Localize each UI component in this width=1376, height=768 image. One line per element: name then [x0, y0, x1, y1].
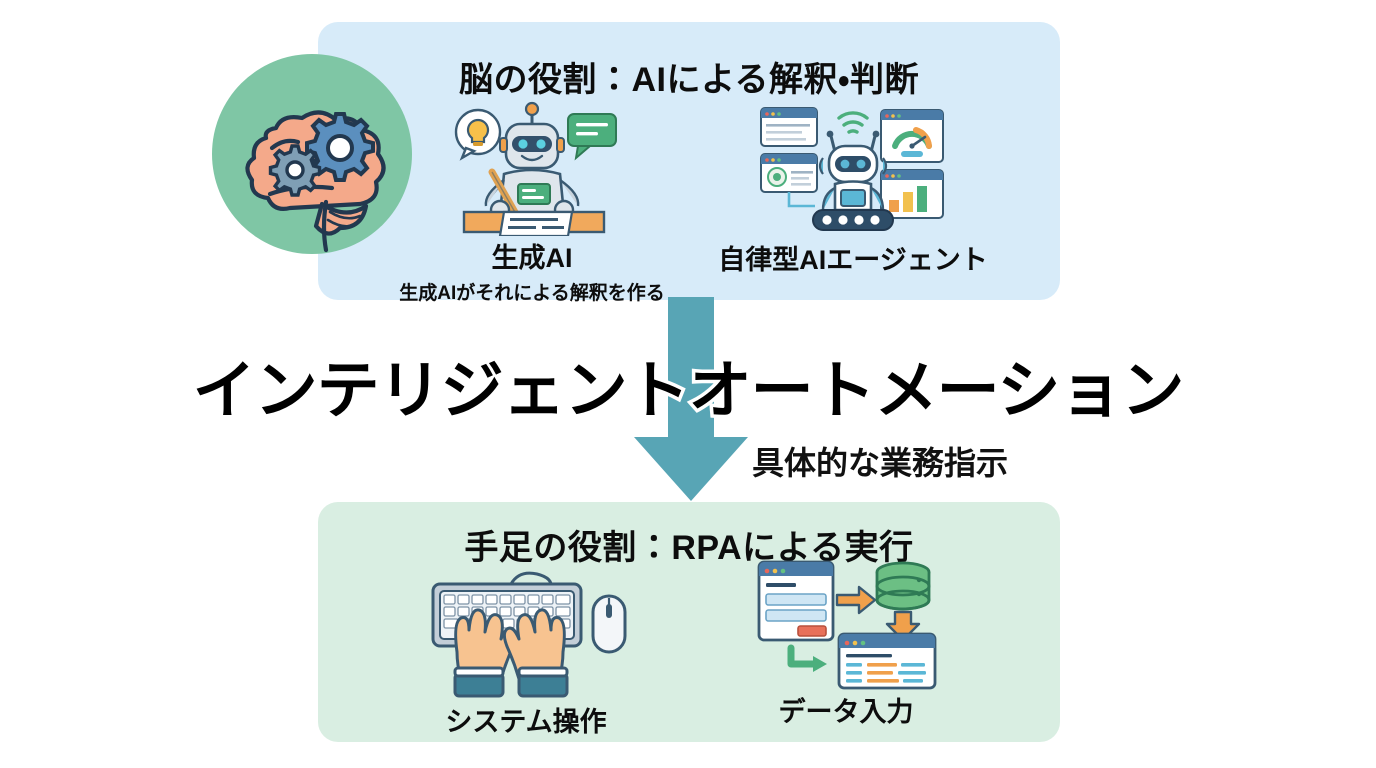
item-generative-ai-label: 生成AI [382, 236, 682, 275]
page-title: インテリジェントオートメーション [0, 340, 1376, 431]
item-system-operation: システム操作 [376, 560, 676, 739]
diagram-canvas: 脳の役割：AIによる解釈・判断 [0, 0, 1376, 768]
item-ai-agent-label: 自律型AIエージェント [688, 238, 1018, 277]
item-data-entry: データ入力 [686, 550, 1006, 729]
hands-keyboard-mouse-icon [411, 560, 641, 700]
robot-writing-icon [442, 96, 622, 236]
brain-gears-badge [210, 52, 415, 257]
item-system-operation-label: システム操作 [376, 700, 676, 739]
bottom-panel-rpa-role: 手足の役割：RPAによる実行 [318, 502, 1060, 742]
robot-dashboard-icon [753, 88, 953, 238]
item-ai-agent: 自律型AIエージェント [688, 88, 1018, 277]
item-generative-ai: 生成AI 生成AIがそれによる解釈を作る [382, 96, 682, 305]
flow-arrow-caption: 具体的な業務指示 [752, 438, 1008, 484]
form-database-spreadsheet-icon [751, 550, 941, 690]
item-data-entry-label: データ入力 [686, 690, 1006, 729]
top-panel-brain-role: 脳の役割：AIによる解釈・判断 [318, 22, 1060, 300]
